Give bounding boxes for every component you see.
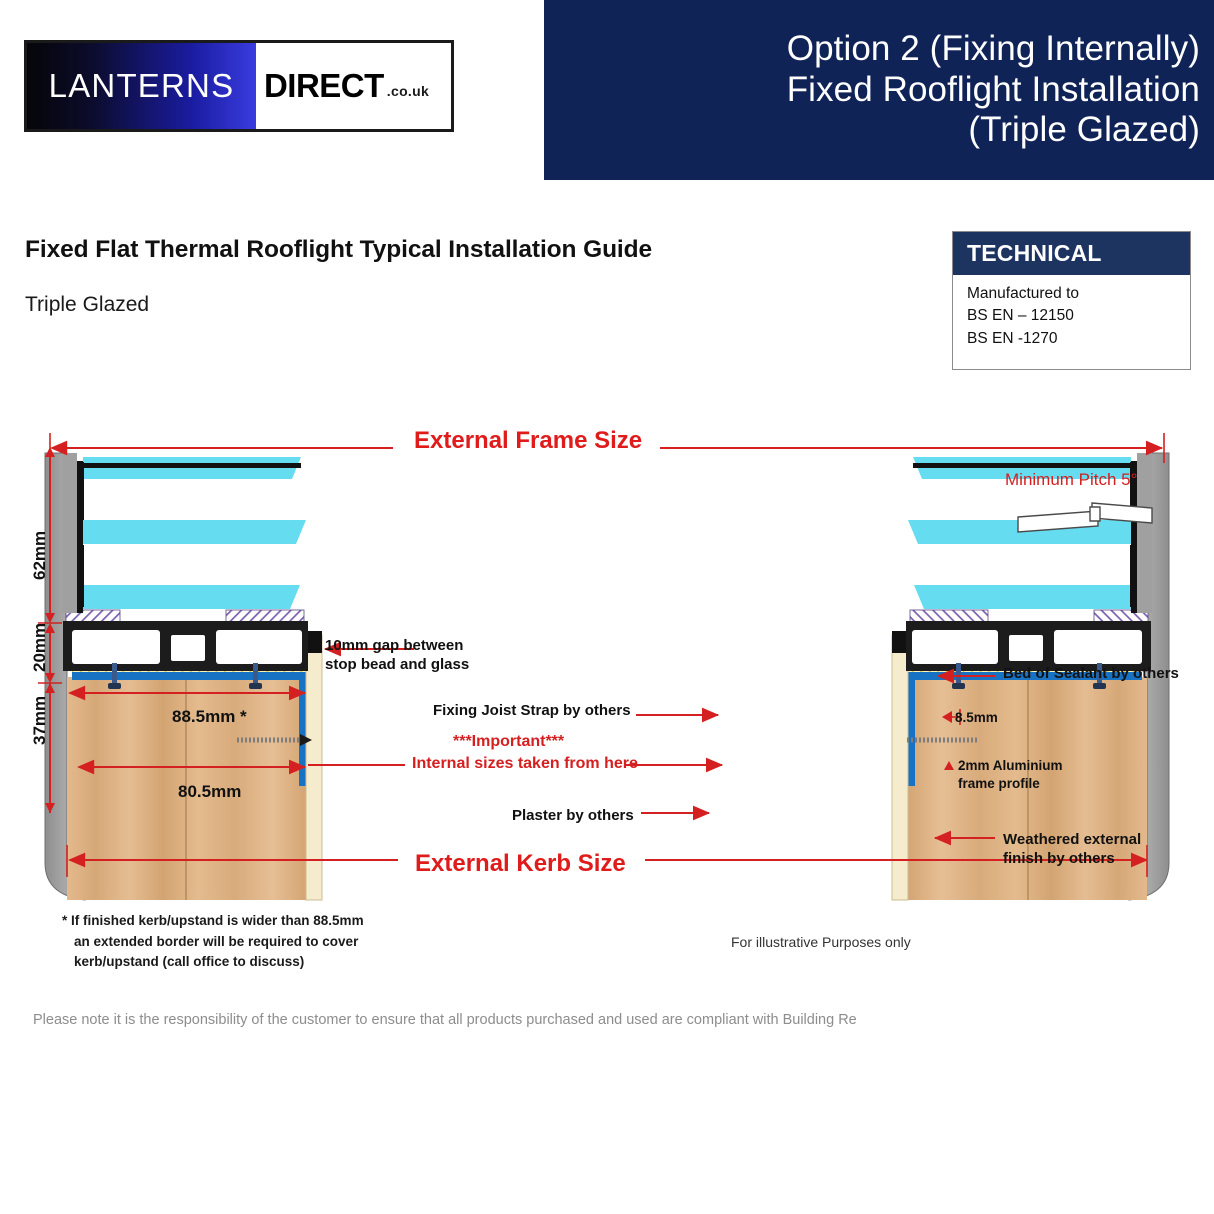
kerb-footnote-line-3: kerb/upstand (call office to discuss) [62,952,364,973]
page-title: Fixed Flat Thermal Rooflight Typical Ins… [25,236,652,264]
logo-lanterns-block: LANTERNS [27,43,256,129]
kerb-footnote-line-1: * If finished kerb/upstand is wider than… [62,911,364,932]
callout-important-heading: ***Important*** [453,733,564,751]
technical-box-header: TECHNICAL [953,232,1190,275]
illustrative-purposes-note: For illustrative Purposes only [731,934,911,950]
callout-aluminium-profile-line-2: frame profile [958,775,1063,793]
header-title-line-3: (Triple Glazed) [787,110,1200,151]
callout-weathered-finish-line-1: Weathered external [1003,830,1141,849]
dimension-37mm: 37mm [30,696,50,745]
header-title: Option 2 (Fixing Internally) Fixed Roofl… [787,29,1214,152]
callout-plaster-by-others: Plaster by others [512,806,634,825]
callout-stop-bead-line-1: 10mm gap between [325,636,469,655]
dimension-20mm: 20mm [30,623,50,672]
minimum-pitch-label: Minimum Pitch 5° [1005,470,1137,490]
building-regs-disclaimer: Please note it is the responsibility of … [33,1012,857,1028]
dimension-88-5mm: 88.5mm * [172,707,247,727]
technical-line-2: BS EN – 12150 [967,305,1190,327]
left-cross-section [45,453,322,900]
callout-aluminium-profile: 2mm Aluminium frame profile [958,757,1063,792]
kerb-footnote: * If finished kerb/upstand is wider than… [62,911,364,973]
callout-stop-bead-line-2: stop bead and glass [325,655,469,674]
callout-weathered-finish-line-2: finish by others [1003,849,1141,868]
dimension-62mm: 62mm [30,531,50,580]
company-logo: LANTERNS DIRECT .co.uk [24,40,454,132]
left-glazing-panes [83,457,306,609]
logo-direct-text: DIRECT [264,67,384,105]
external-frame-size-label: External Frame Size [414,427,642,455]
callout-stop-bead-gap: 10mm gap between stop bead and glass [325,636,469,674]
callout-weathered-finish: Weathered external finish by others [1003,830,1141,868]
callout-fixing-joist-strap: Fixing Joist Strap by others [433,701,631,720]
callout-important-detail: Internal sizes taken from here [412,755,638,773]
callout-aluminium-profile-line-1: 2mm Aluminium [958,757,1063,775]
left-frame-profile [63,623,308,671]
technical-box: TECHNICAL Manufactured to BS EN – 12150 … [952,231,1191,370]
logo-tld-text: .co.uk [387,83,429,99]
logo-lanterns-text: LANTERNS [49,67,235,105]
logo-direct-block: DIRECT .co.uk [256,43,451,129]
callout-8-5mm: 8.5mm [955,709,998,727]
callout-bed-of-sealant: Bed of Sealant by others [1003,664,1179,683]
kerb-footnote-line-2: an extended border will be required to c… [62,932,364,953]
header-banner: Option 2 (Fixing Internally) Fixed Roofl… [544,0,1214,180]
header-title-line-1: Option 2 (Fixing Internally) [787,29,1200,70]
technical-line-3: BS EN -1270 [967,328,1190,350]
external-kerb-size-label: External Kerb Size [415,850,626,878]
technical-line-1: Manufactured to [967,283,1190,305]
technical-box-body: Manufactured to BS EN – 12150 BS EN -127… [953,275,1190,350]
page-subtitle: Triple Glazed [25,293,149,317]
dimension-80-5mm: 80.5mm [178,782,241,802]
header-title-line-2: Fixed Rooflight Installation [787,70,1200,111]
technical-box-heading: TECHNICAL [967,240,1102,267]
